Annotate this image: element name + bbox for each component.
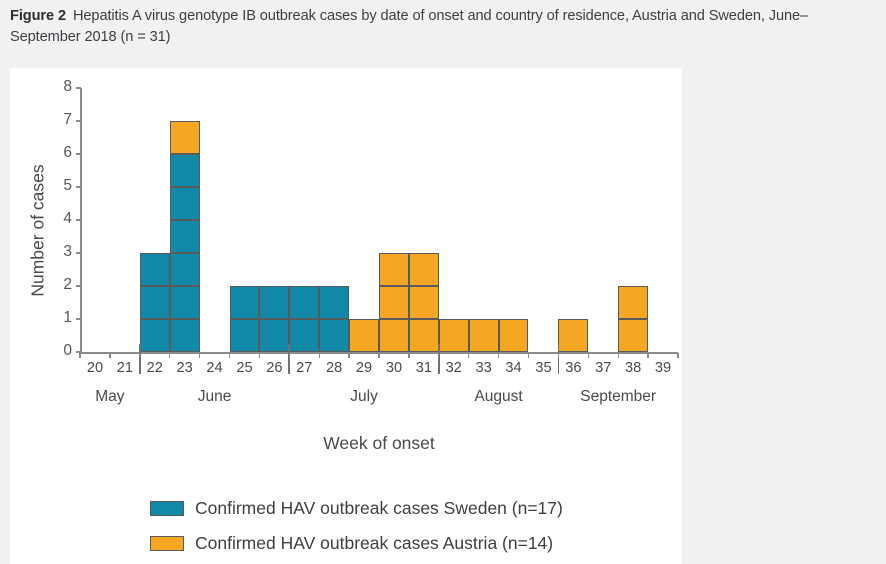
x-tick-mark (199, 353, 200, 358)
bar-segment-sweden (170, 187, 200, 220)
y-tick-mark (76, 153, 81, 154)
bar-segment-sweden (289, 286, 319, 319)
x-tick-mark (588, 353, 589, 358)
bar-segment-austria (499, 319, 529, 352)
x-tick-mark (528, 353, 529, 358)
y-tick-mark (76, 120, 81, 121)
x-tick-mark (289, 353, 290, 358)
bar-segment-sweden (230, 286, 260, 319)
x-week-label: 27 (289, 360, 319, 376)
x-week-label: 24 (200, 360, 230, 376)
x-tick-mark (348, 353, 349, 358)
x-tick-mark (169, 353, 170, 358)
x-tick-mark (259, 353, 260, 358)
x-week-label: 23 (170, 360, 200, 376)
x-week-label: 21 (110, 360, 140, 376)
x-tick-mark (677, 353, 678, 358)
y-tick-label: 4 (36, 210, 72, 228)
bar-segment-austria (439, 319, 469, 352)
bar-segment-austria (349, 319, 379, 352)
x-week-label: 29 (349, 360, 379, 376)
x-tick-mark (498, 353, 499, 358)
y-tick-mark (76, 87, 81, 88)
x-week-label: 32 (439, 360, 469, 376)
x-week-label: 26 (259, 360, 289, 376)
bar-segment-sweden (259, 319, 289, 352)
bar-segment-sweden (140, 286, 170, 319)
legend-item[interactable]: Confirmed HAV outbreak cases Austria (n=… (150, 526, 563, 561)
x-week-label: 20 (80, 360, 110, 376)
bar-segment-sweden (319, 286, 349, 319)
x-week-label: 22 (140, 360, 170, 376)
x-tick-mark (438, 353, 439, 358)
bar-segment-austria (618, 319, 648, 352)
legend-item[interactable]: Confirmed HAV outbreak cases Sweden (n=1… (150, 491, 563, 526)
bar-segment-austria (469, 319, 499, 352)
x-week-label: 34 (499, 360, 529, 376)
x-tick-mark (229, 353, 230, 358)
x-month-label: August (439, 388, 559, 406)
x-week-label: 30 (379, 360, 409, 376)
chart-legend: Confirmed HAV outbreak cases Sweden (n=1… (150, 491, 563, 561)
y-tick-label: 7 (36, 111, 72, 129)
y-tick-label: 1 (36, 309, 72, 327)
bar-segment-austria (379, 253, 409, 286)
legend-item-label: Confirmed HAV outbreak cases Austria (n=… (195, 533, 553, 554)
x-tick-mark (647, 353, 648, 358)
y-tick-mark (76, 252, 81, 253)
x-week-label: 37 (588, 360, 618, 376)
x-week-label: 28 (319, 360, 349, 376)
x-axis-title: Week of onset (80, 433, 678, 454)
x-tick-mark (109, 353, 110, 358)
x-week-label: 31 (409, 360, 439, 376)
bar-segment-austria (379, 319, 409, 352)
x-month-label: June (140, 388, 290, 406)
x-tick-mark (618, 353, 619, 358)
y-tick-mark (76, 285, 81, 286)
bar-segment-austria (379, 286, 409, 319)
y-tick-mark (76, 219, 81, 220)
figure-caption: Figure 2Hepatitis A virus genotype IB ou… (10, 6, 878, 47)
x-tick-mark (319, 353, 320, 358)
bar-segment-sweden (140, 319, 170, 352)
x-month-label: July (289, 388, 439, 406)
bar-segment-austria (409, 286, 439, 319)
x-tick-mark (408, 353, 409, 358)
plot-area: Number of cases 012345678 20212223242526… (10, 68, 682, 564)
x-tick-mark (378, 353, 379, 358)
x-month-label: May (80, 388, 140, 406)
chart-panel: Number of cases 012345678 20212223242526… (10, 68, 682, 564)
y-tick-label: 2 (36, 276, 72, 294)
y-tick-mark (76, 318, 81, 319)
y-tick-label: 8 (36, 78, 72, 96)
figure-caption-text: Hepatitis A virus genotype IB outbreak c… (10, 8, 808, 45)
bar-segment-sweden (170, 253, 200, 286)
bar-segment-sweden (140, 253, 170, 286)
x-week-label: 36 (558, 360, 588, 376)
y-tick-label: 0 (36, 342, 72, 360)
bar-segment-sweden (170, 154, 200, 187)
x-month-label: September (558, 388, 678, 406)
bar-segment-austria (618, 286, 648, 319)
x-tick-mark (139, 353, 140, 358)
bar-segment-austria (409, 319, 439, 352)
legend-color-swatch (150, 501, 184, 516)
bar-segment-austria (558, 319, 588, 352)
x-week-label: 25 (230, 360, 260, 376)
legend-color-swatch (150, 536, 184, 551)
y-tick-label: 6 (36, 144, 72, 162)
y-tick-mark (76, 186, 81, 187)
x-week-label: 35 (529, 360, 559, 376)
bar-segment-austria (170, 121, 200, 154)
y-tick-label: 3 (36, 243, 72, 261)
y-tick-label: 5 (36, 177, 72, 195)
bar-segment-austria (409, 253, 439, 286)
bar-segment-sweden (230, 319, 260, 352)
bar-segment-sweden (170, 220, 200, 253)
bar-segment-sweden (170, 319, 200, 352)
bar-segment-sweden (170, 286, 200, 319)
x-week-label: 33 (469, 360, 499, 376)
bar-segment-sweden (259, 286, 289, 319)
x-tick-mark (558, 353, 559, 358)
legend-item-label: Confirmed HAV outbreak cases Sweden (n=1… (195, 498, 563, 519)
bar-segment-sweden (289, 319, 319, 352)
x-week-label: 39 (648, 360, 678, 376)
bar-segment-sweden (319, 319, 349, 352)
figure-number: Figure 2 (10, 8, 66, 24)
x-week-label: 38 (618, 360, 648, 376)
x-tick-mark (79, 353, 80, 358)
x-tick-mark (468, 353, 469, 358)
